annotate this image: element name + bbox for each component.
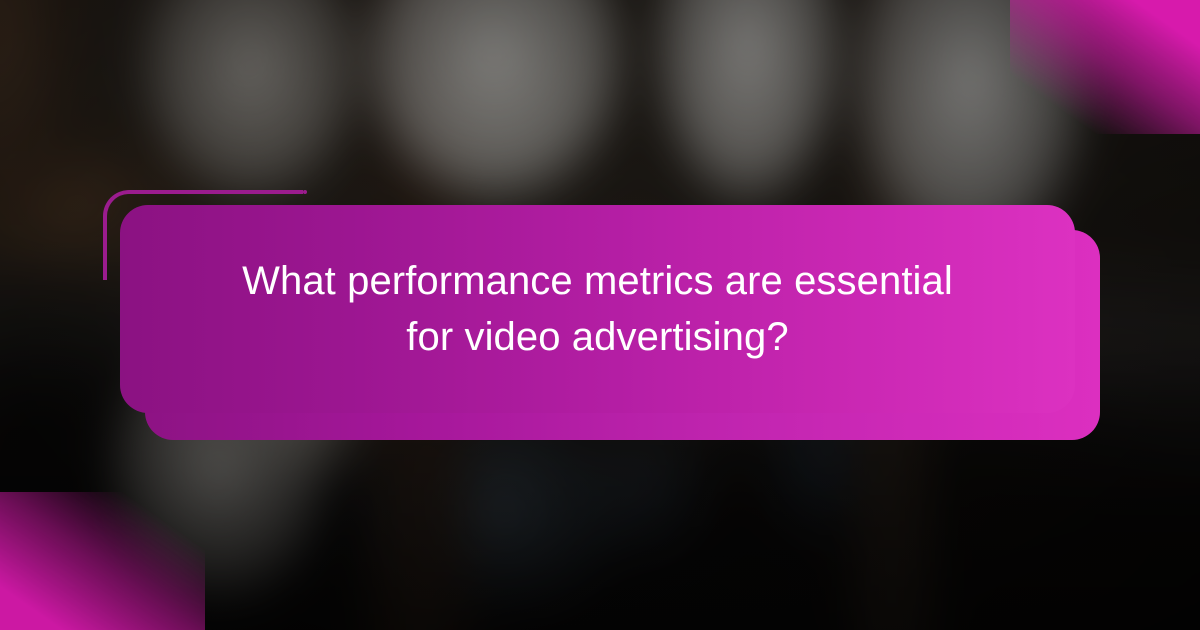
question-text: What performance metrics are essential f… <box>182 253 1013 365</box>
question-card: What performance metrics are essential f… <box>120 205 1075 413</box>
promo-card-canvas: What performance metrics are essential f… <box>0 0 1200 630</box>
